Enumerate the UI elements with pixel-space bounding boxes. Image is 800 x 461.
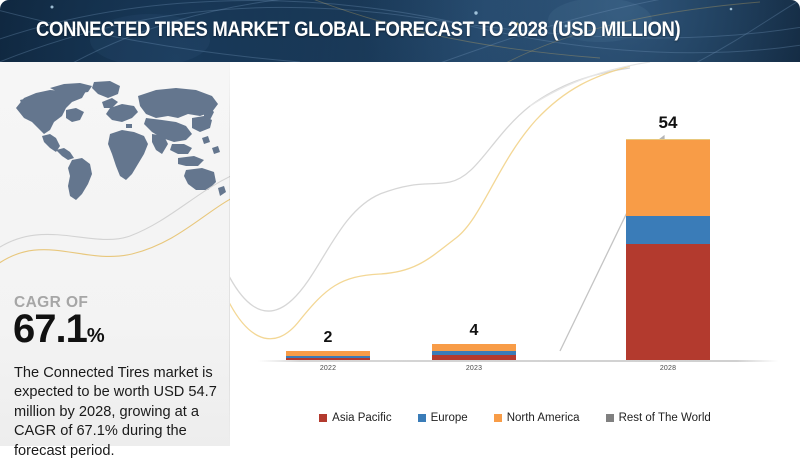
bar-total-2028: 54 <box>659 113 678 133</box>
bar-group-2022[interactable]: 2 2022 <box>286 351 370 360</box>
bar-segment-asia-pacific-2023[interactable] <box>432 355 516 360</box>
chart-legend: Asia Pacific Europe North America Rest o… <box>230 412 800 424</box>
legend-label-asia-pacific: Asia Pacific <box>332 412 391 424</box>
legend-swatch-europe <box>418 414 426 422</box>
page-title: CONNECTED TIRES MARKET GLOBAL FORECAST T… <box>36 17 680 42</box>
bar-category-label-2028: 2028 <box>660 365 676 372</box>
bar-segment-asia-pacific-2028[interactable] <box>626 244 710 360</box>
legend-label-north-america: North America <box>507 412 580 424</box>
legend-item-rest-of-the-world[interactable]: Rest of The World <box>606 412 711 424</box>
cagr-value: 67.1% <box>13 309 105 349</box>
legend-item-europe[interactable]: Europe <box>418 412 468 424</box>
legend-label-europe: Europe <box>431 412 468 424</box>
header-banner: CONNECTED TIRES MARKET GLOBAL FORECAST T… <box>0 0 800 62</box>
bar-total-2023: 4 <box>470 322 479 340</box>
infographic-root: CONNECTED TIRES MARKET GLOBAL FORECAST T… <box>0 0 800 446</box>
summary-panel: CAGR OF 67.1% The Connected Tires market… <box>0 62 230 446</box>
cagr-percent-sign: % <box>87 325 105 347</box>
chart-area: 2 2022 4 2023 54 2028 67.1% <box>230 62 800 446</box>
bar-segment-europe-2028[interactable] <box>626 216 710 244</box>
bar-category-label-2022: 2022 <box>320 365 336 372</box>
bar-category-label-2023: 2023 <box>466 365 482 372</box>
legend-swatch-north-america <box>494 414 502 422</box>
legend-label-rest-of-the-world: Rest of The World <box>619 412 711 424</box>
growth-arrow-icon <box>230 62 800 446</box>
legend-swatch-rest-of-the-world <box>606 414 614 422</box>
bar-segment-north-america-2028[interactable] <box>626 139 710 216</box>
legend-item-north-america[interactable]: North America <box>494 412 580 424</box>
bar-group-2023[interactable]: 4 2023 <box>432 344 516 360</box>
bar-total-2022: 2 <box>324 329 333 347</box>
bar-segment-asia-pacific-2022[interactable] <box>286 358 370 360</box>
legend-item-asia-pacific[interactable]: Asia Pacific <box>319 412 391 424</box>
bar-group-2028[interactable]: 54 2028 <box>626 139 710 360</box>
cagr-number: 67.1 <box>13 307 87 351</box>
x-axis-line <box>258 360 778 362</box>
bar-segment-north-america-2023[interactable] <box>432 344 516 351</box>
panel-decorative-curves <box>0 158 230 276</box>
legend-swatch-asia-pacific <box>319 414 327 422</box>
summary-description: The Connected Tires market is expected t… <box>14 364 219 461</box>
